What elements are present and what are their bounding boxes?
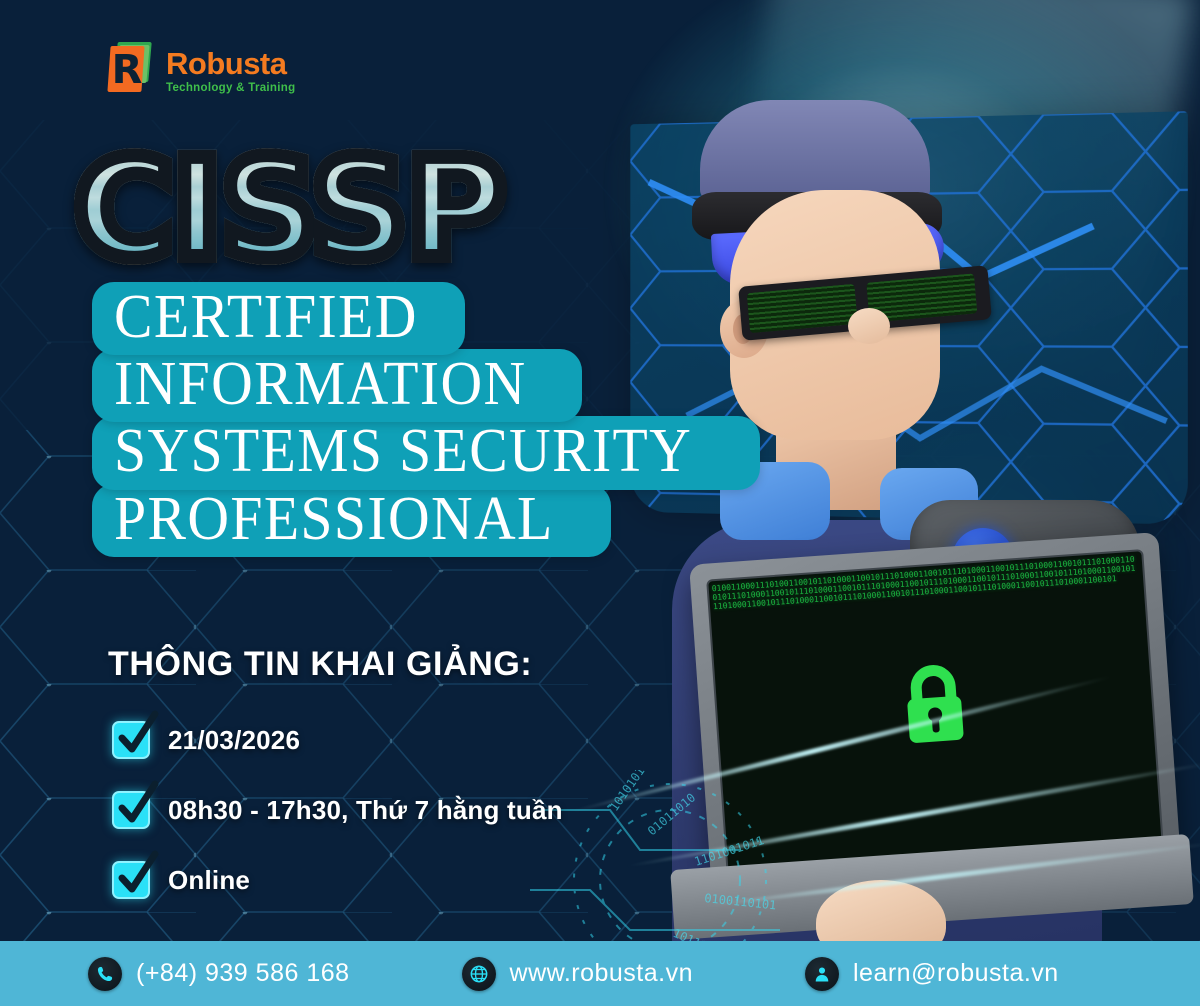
contact-phone-text: (+84) 939 586 168 <box>136 959 350 988</box>
info-item-text: Online <box>168 865 250 896</box>
subtitle-banner-line-3: SYSTEMS SECURITY <box>92 416 760 489</box>
brand-wordmark: Robusta Technology & Training <box>166 48 295 95</box>
poster-root: 0100110001110100110010110100011001011101… <box>0 0 1200 1006</box>
list-item: Online <box>112 852 563 908</box>
binary-circuit-decoration: 10101010 01011010 1101001011 0100110101 … <box>520 770 940 970</box>
svg-text:0100110101: 0100110101 <box>704 891 777 912</box>
info-item-text: 21/03/2026 <box>168 725 300 756</box>
subtitle-banner-line-1: CERTIFIED <box>92 282 465 355</box>
subtitle-banner-group: CERTIFIED INFORMATION SYSTEMS SECURITY P… <box>92 282 760 551</box>
brand-tagline: Technology & Training <box>166 83 295 95</box>
brand-logo[interactable]: R Robusta Technology & Training <box>96 42 295 100</box>
contact-footer-bar: (+84) 939 586 168 www.robusta.vn lea <box>0 941 1200 1006</box>
page-title-acronym: CISSP <box>74 142 504 278</box>
logo-letter: R <box>110 48 144 92</box>
subtitle-line-1: CERTIFIED <box>114 286 418 349</box>
contact-email-text: learn@robusta.vn <box>853 959 1059 988</box>
character-nose <box>848 308 890 344</box>
subtitle-banner-line-2: INFORMATION <box>92 349 582 422</box>
checkbox-checked-icon <box>112 791 150 829</box>
contact-email[interactable]: learn@robusta.vn <box>805 957 1059 991</box>
robusta-logo-mark: R <box>96 42 154 100</box>
globe-icon <box>462 957 496 991</box>
svg-text:1101001011: 1101001011 <box>693 833 766 869</box>
list-item: 08h30 - 17h30, Thứ 7 hằng tuần <box>112 782 563 838</box>
brand-name: Robusta <box>166 48 295 79</box>
subtitle-banner-line-4: PROFESSIONAL <box>92 484 611 557</box>
police-cap-crown <box>700 100 930 200</box>
subtitle-line-2: INFORMATION <box>114 353 527 416</box>
svg-text:01011010: 01011010 <box>645 790 698 838</box>
info-list: 21/03/2026 08h30 - 17h30, Thứ 7 hằng tuầ… <box>112 712 563 922</box>
info-section-title: THÔNG TIN KHAI GIẢNG: <box>108 645 532 684</box>
svg-text:10101010: 10101010 <box>607 770 652 814</box>
user-icon <box>805 957 839 991</box>
checkbox-checked-icon <box>112 861 150 899</box>
contact-phone[interactable]: (+84) 939 586 168 <box>88 957 350 991</box>
contact-website-text: www.robusta.vn <box>510 959 693 988</box>
contact-website[interactable]: www.robusta.vn <box>462 957 693 991</box>
subtitle-line-3: SYSTEMS SECURITY <box>114 420 692 483</box>
green-padlock-icon <box>893 659 977 755</box>
info-item-text: 08h30 - 17h30, Thứ 7 hằng tuần <box>168 795 563 826</box>
list-item: 21/03/2026 <box>112 712 563 768</box>
subtitle-line-4: PROFESSIONAL <box>114 488 554 551</box>
checkbox-checked-icon <box>112 721 150 759</box>
phone-icon <box>88 957 122 991</box>
